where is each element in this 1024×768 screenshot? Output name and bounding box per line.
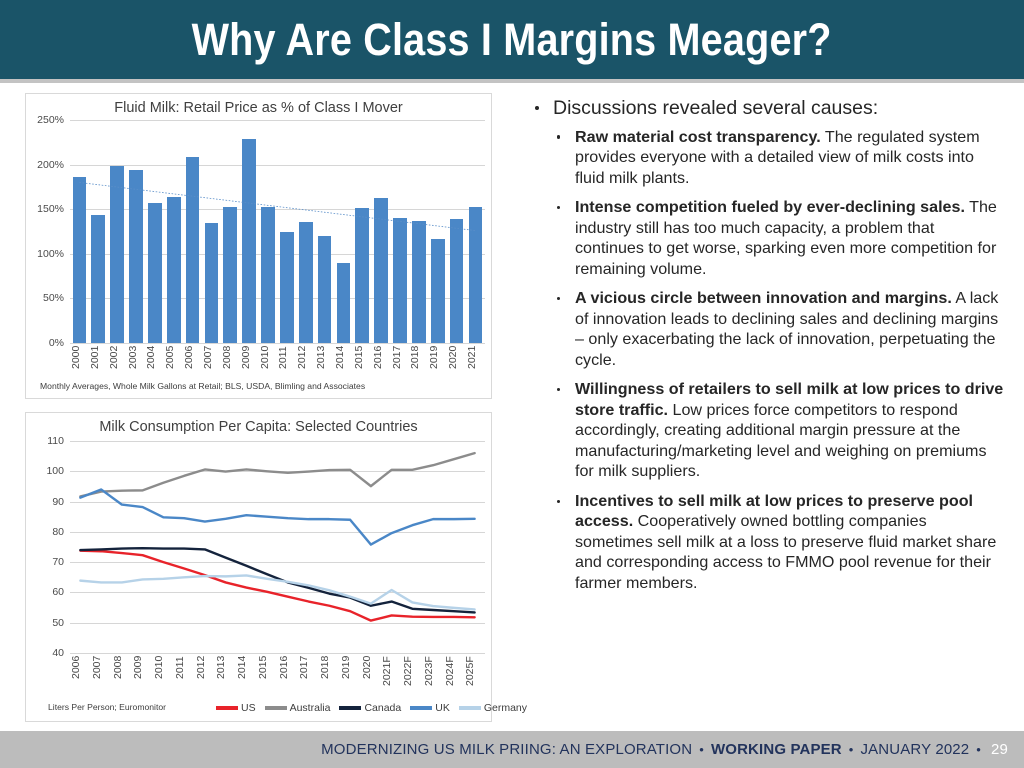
- gridline: [70, 653, 485, 654]
- legend-label: US: [241, 702, 256, 714]
- line-chart-y-axis: 405060708090100110: [26, 441, 68, 653]
- bullet-lead-text: Intense competition fueled by ever-decli…: [575, 198, 965, 216]
- x-axis-tick-label: 2023F: [423, 656, 444, 702]
- legend-item: Canada: [339, 702, 401, 714]
- chart-panel-retail-price: Fluid Milk: Retail Price as % of Class I…: [25, 93, 492, 399]
- y-axis-tick-label: 40: [52, 647, 64, 659]
- x-axis-tick-label: 2008: [112, 656, 133, 702]
- x-axis-tick-label: 2021F: [381, 656, 402, 702]
- x-axis-tick-label: 2018: [409, 346, 428, 388]
- bullet-dot-icon: [557, 388, 560, 391]
- legend-item: Australia: [265, 702, 331, 714]
- y-axis-tick-label: 50%: [43, 292, 64, 304]
- bullet-sublist: Raw material cost transparency. The regu…: [527, 127, 1007, 594]
- chart-source-note-retail-price: Monthly Averages, Whole Milk Gallons at …: [40, 381, 365, 391]
- y-axis-tick-label: 60: [52, 586, 64, 598]
- bullet-dot-icon: [557, 135, 560, 138]
- x-axis-tick-label: 2020: [361, 656, 382, 702]
- legend-label: Canada: [364, 702, 401, 714]
- y-axis-tick-label: 80: [52, 526, 64, 538]
- bullet-dot-icon: [535, 106, 539, 110]
- legend-label: Germany: [484, 702, 527, 714]
- legend-label: UK: [435, 702, 450, 714]
- bullet-intro-text: Discussions revealed several causes:: [553, 97, 878, 119]
- page-title: Why Are Class I Margins Meager?: [192, 14, 832, 66]
- y-axis-tick-label: 100: [46, 465, 64, 477]
- x-axis-tick-label: 2007: [91, 656, 112, 702]
- legend-item: UK: [410, 702, 450, 714]
- x-axis-tick-label: 2009: [132, 656, 153, 702]
- x-axis-tick-label: 2019: [428, 346, 447, 388]
- bullet-item: Incentives to sell milk at low prices to…: [527, 491, 1007, 594]
- gridline: [70, 343, 485, 344]
- y-axis-tick-label: 90: [52, 496, 64, 508]
- x-axis-tick-label: 2022F: [402, 656, 423, 702]
- x-axis-tick-label: 2024F: [444, 656, 465, 702]
- footer-page-number: 29: [988, 741, 1008, 758]
- bullet-dot-icon: [557, 500, 560, 503]
- line-series-container: [70, 441, 485, 653]
- bullet-item: Willingness of retailers to sell milk at…: [527, 379, 1007, 482]
- trendline: [70, 120, 485, 343]
- y-axis-tick-label: 100%: [37, 248, 64, 260]
- x-axis-tick-label: 2025F: [464, 656, 485, 702]
- legend-swatch-icon: [216, 706, 238, 709]
- legend-swatch-icon: [459, 706, 481, 709]
- x-axis-tick-label: 2010: [153, 656, 174, 702]
- footer-separator-icon: •: [976, 742, 981, 757]
- chart-panel-milk-consumption: Milk Consumption Per Capita: Selected Co…: [25, 412, 492, 722]
- bullet-lead-text: A vicious circle between innovation and …: [575, 289, 952, 307]
- line-chart-legend: USAustraliaCanadaUKGermany: [216, 702, 527, 714]
- y-axis-tick-label: 250%: [37, 114, 64, 126]
- title-underline-divider: [0, 79, 1024, 83]
- x-axis-tick-label: 2013: [215, 656, 236, 702]
- bullet-dot-icon: [557, 206, 560, 209]
- chart-source-note-milk-consumption: Liters Per Person; Euromonitor: [48, 702, 166, 712]
- legend-swatch-icon: [410, 706, 432, 709]
- line-series-germany: [80, 575, 474, 609]
- x-axis-tick-label: 2021: [466, 346, 485, 388]
- footer-paper-label: WORKING PAPER: [711, 741, 842, 758]
- bullet-lead-text: Raw material cost transparency.: [575, 128, 821, 146]
- legend-item: US: [216, 702, 256, 714]
- x-axis-tick-label: 2017: [298, 656, 319, 702]
- legend-label: Australia: [290, 702, 331, 714]
- y-axis-tick-label: 150%: [37, 203, 64, 215]
- bullet-intro: Discussions revealed several causes:: [527, 96, 1007, 121]
- legend-swatch-icon: [339, 706, 361, 709]
- bullet-list: Discussions revealed several causes: Raw…: [527, 96, 1007, 602]
- y-axis-tick-label: 200%: [37, 159, 64, 171]
- bullet-item: A vicious circle between innovation and …: [527, 288, 1007, 370]
- slide-footer: MODERNIZING US MILK PRIING: AN EXPLORATI…: [0, 731, 1024, 768]
- y-axis-tick-label: 70: [52, 556, 64, 568]
- x-axis-tick-label: 2020: [447, 346, 466, 388]
- chart-title-milk-consumption: Milk Consumption Per Capita: Selected Co…: [26, 413, 491, 436]
- footer-separator-icon: •: [699, 742, 704, 757]
- line-chart-plot-area: [70, 441, 485, 653]
- x-axis-tick-label: 2011: [174, 656, 195, 702]
- line-series-australia: [80, 453, 474, 496]
- x-axis-tick-label: 2016: [372, 346, 391, 388]
- x-axis-tick-label: 2016: [278, 656, 299, 702]
- bar-chart-plot-area: [70, 120, 485, 343]
- legend-swatch-icon: [265, 706, 287, 709]
- line-chart-x-axis: 2006200720082009201020112012201320142015…: [70, 656, 485, 702]
- x-axis-tick-label: 2015: [257, 656, 278, 702]
- footer-publication: MODERNIZING US MILK PRIING: AN EXPLORATI…: [321, 741, 692, 758]
- y-axis-tick-label: 110: [47, 435, 64, 447]
- y-axis-tick-label: 50: [52, 617, 64, 629]
- bullet-body-text: Cooperatively owned bottling companies s…: [575, 512, 996, 592]
- chart-title-retail-price: Fluid Milk: Retail Price as % of Class I…: [26, 94, 491, 117]
- x-axis-tick-label: 2017: [391, 346, 410, 388]
- x-axis-tick-label: 2018: [319, 656, 340, 702]
- footer-date: JANUARY 2022: [860, 741, 969, 758]
- x-axis-tick-label: 2012: [195, 656, 216, 702]
- footer-separator-icon: •: [849, 742, 854, 757]
- bullet-item: Raw material cost transparency. The regu…: [527, 127, 1007, 189]
- y-axis-tick-label: 0%: [49, 337, 64, 349]
- x-axis-tick-label: 2014: [236, 656, 257, 702]
- x-axis-tick-label: 2006: [70, 656, 91, 702]
- line-series-uk: [80, 489, 474, 544]
- x-axis-tick-label: 2019: [340, 656, 361, 702]
- bullet-dot-icon: [557, 297, 560, 300]
- bar-chart-y-axis: 0%50%100%150%200%250%: [26, 120, 68, 343]
- legend-item: Germany: [459, 702, 527, 714]
- slide-title-bar: Why Are Class I Margins Meager?: [0, 0, 1024, 79]
- bullet-item: Intense competition fueled by ever-decli…: [527, 197, 1007, 279]
